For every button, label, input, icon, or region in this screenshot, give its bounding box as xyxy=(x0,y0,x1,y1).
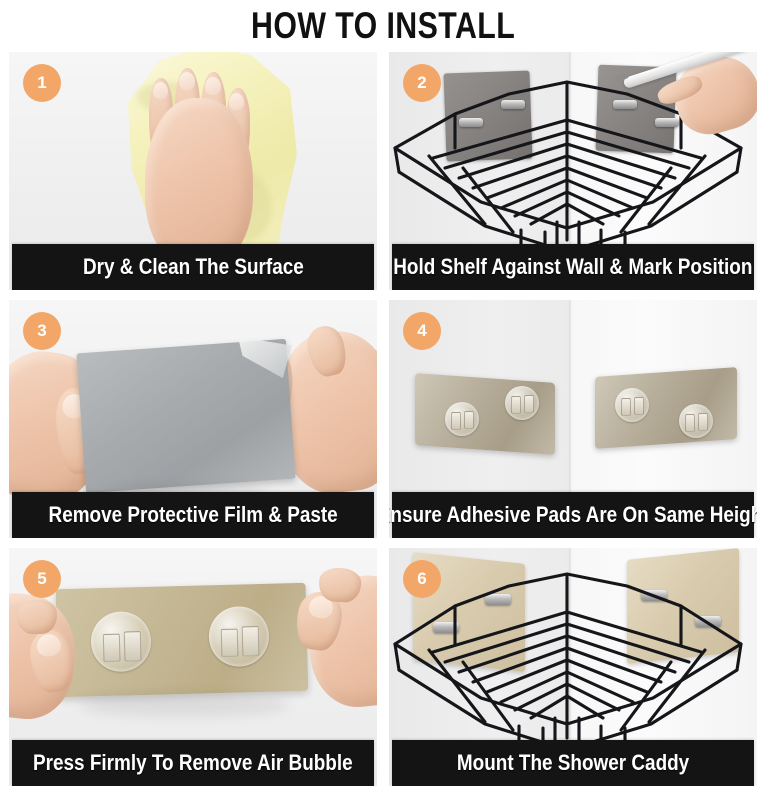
step-caption-1: Dry & Clean The Surface xyxy=(12,244,374,290)
step-caption-2: Hold Shelf Against Wall & Mark Position xyxy=(392,244,754,290)
mount-slot xyxy=(524,395,534,413)
step-number-badge-2: 2 xyxy=(403,64,441,102)
mount-slot xyxy=(685,414,695,432)
fingernail xyxy=(35,633,62,658)
step-caption-4: Ensure Adhesive Pads Are On Same Height xyxy=(392,492,754,538)
infographic-page: HOW TO INSTALL xyxy=(0,0,766,791)
hand-icon xyxy=(145,98,253,266)
mount-slot xyxy=(511,396,521,414)
step-number-badge-4: 4 xyxy=(403,312,441,350)
mount-slot xyxy=(221,629,239,657)
step-caption-text: Dry & Clean The Surface xyxy=(83,254,304,280)
mount-dome xyxy=(445,402,479,436)
steps-grid: 1 Dry & Clean The Surface xyxy=(0,52,766,786)
step-caption-5: Press Firmly To Remove Air Bubble xyxy=(12,740,374,786)
step-caption-6: Mount The Shower Caddy xyxy=(392,740,754,786)
mount-slot xyxy=(464,411,474,429)
mount-dome xyxy=(505,386,539,420)
fingernail xyxy=(179,72,195,90)
protective-film-card xyxy=(76,339,295,493)
mount-slot xyxy=(124,631,142,661)
mount-slot xyxy=(451,412,461,430)
shadow xyxy=(79,694,289,716)
mount-slot xyxy=(621,398,631,416)
step-caption-text: Mount The Shower Caddy xyxy=(457,750,689,776)
mount-slot xyxy=(698,413,708,431)
step-panel-5: 5 Press Firmly To Remove Air Bubble xyxy=(9,548,377,786)
fingernail xyxy=(153,82,168,99)
step-caption-text: Press Firmly To Remove Air Bubble xyxy=(33,750,353,776)
mount-slot xyxy=(634,397,644,415)
title-container: HOW TO INSTALL xyxy=(0,0,766,52)
step-caption-text: Hold Shelf Against Wall & Mark Position xyxy=(393,254,752,280)
fingernail xyxy=(205,77,221,95)
mount-dome xyxy=(208,606,270,668)
finger xyxy=(16,599,57,634)
page-title: HOW TO INSTALL xyxy=(251,5,515,47)
film-peel-corner xyxy=(236,336,291,378)
mount-slot xyxy=(103,634,121,662)
step-panel-3: 3 Remove Protective Film & Paste xyxy=(9,300,377,538)
step-caption-text: Ensure Adhesive Pads Are On Same Height xyxy=(389,502,757,528)
mount-dome xyxy=(679,404,713,438)
step-number-badge-5: 5 xyxy=(23,560,61,598)
step-caption-3: Remove Protective Film & Paste xyxy=(12,492,374,538)
step-number-badge-3: 3 xyxy=(23,312,61,350)
mount-dome xyxy=(90,611,152,673)
step-number-badge-6: 6 xyxy=(403,560,441,598)
fingernail xyxy=(229,93,244,110)
step-panel-2: 2 Hold Shelf Against Wall & Mark Positio… xyxy=(389,52,757,290)
mount-slot xyxy=(242,626,260,656)
step-panel-4: 4 Ensure Adhesive Pads Are On Same Heigh… xyxy=(389,300,757,538)
step-panel-6: 6 Mount The Shower Caddy xyxy=(389,548,757,786)
mount-dome xyxy=(615,388,649,422)
step-number-badge-1: 1 xyxy=(23,64,61,102)
step-panel-1: 1 Dry & Clean The Surface xyxy=(9,52,377,290)
step-caption-text: Remove Protective Film & Paste xyxy=(48,502,337,528)
adhesive-pad xyxy=(56,583,309,698)
